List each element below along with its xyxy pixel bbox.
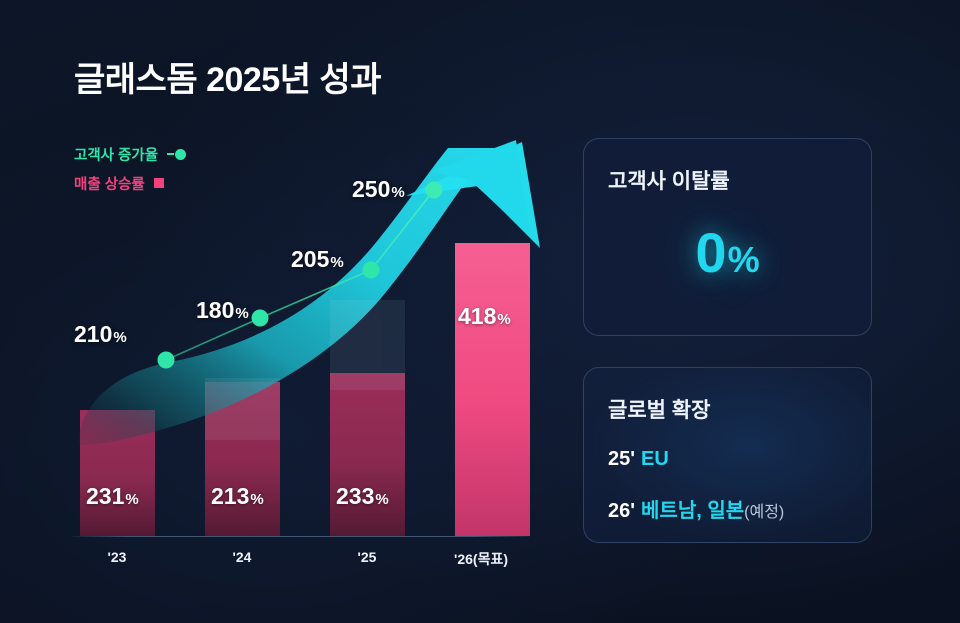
chart-canvas: 210% 180% 205% 250% 231% 213% 233% 418% … bbox=[0, 0, 580, 623]
xtick-2025: '25 bbox=[358, 549, 377, 565]
card-churn-title: 고객사 이탈률 bbox=[608, 165, 730, 195]
point-label-2026: 250% bbox=[352, 176, 405, 203]
global-row-2026-note: (예정) bbox=[744, 504, 784, 521]
bar-2026 bbox=[455, 243, 530, 536]
global-row-2026: 26'베트남, 일본(예정) bbox=[608, 494, 784, 523]
axis-baseline bbox=[72, 536, 529, 537]
point-label-2023: 210% bbox=[74, 321, 127, 348]
bar-2025 bbox=[330, 373, 405, 536]
xtick-2026: '26(목표) bbox=[454, 549, 508, 569]
bar-label-2023: 231% bbox=[86, 483, 139, 510]
point-label-2025: 205% bbox=[291, 246, 344, 273]
global-row-2025-region: EU bbox=[641, 448, 669, 470]
bar-label-2025: 233% bbox=[336, 483, 389, 510]
xtick-2023: '23 bbox=[108, 549, 127, 565]
line-point-2023 bbox=[158, 352, 175, 369]
line-point-2025 bbox=[363, 262, 380, 279]
infographic-slide: 글래스돔 2025년 성과 고객사 증가율 매출 상승률 bbox=[0, 0, 960, 623]
global-row-2025-year: 25' bbox=[608, 448, 635, 470]
card-churn-value: 0% bbox=[584, 225, 871, 281]
point-label-2024: 180% bbox=[196, 297, 249, 324]
line-point-2024 bbox=[252, 310, 269, 327]
line-point-2026 bbox=[426, 182, 443, 199]
global-row-2026-region: 베트남, 일본 bbox=[641, 500, 744, 522]
global-row-2026-year: 26' bbox=[608, 500, 635, 522]
xtick-2024: '24 bbox=[233, 549, 252, 565]
bar-label-2026: 418% bbox=[458, 303, 511, 330]
card-global-title: 글로벌 확장 bbox=[608, 394, 710, 424]
card-customer-churn: 고객사 이탈률 0% bbox=[583, 138, 872, 336]
bar-label-2024: 213% bbox=[211, 483, 264, 510]
global-row-2025: 25'EU bbox=[608, 448, 669, 471]
card-global-expansion: 글로벌 확장 25'EU 26'베트남, 일본(예정) bbox=[583, 367, 872, 543]
